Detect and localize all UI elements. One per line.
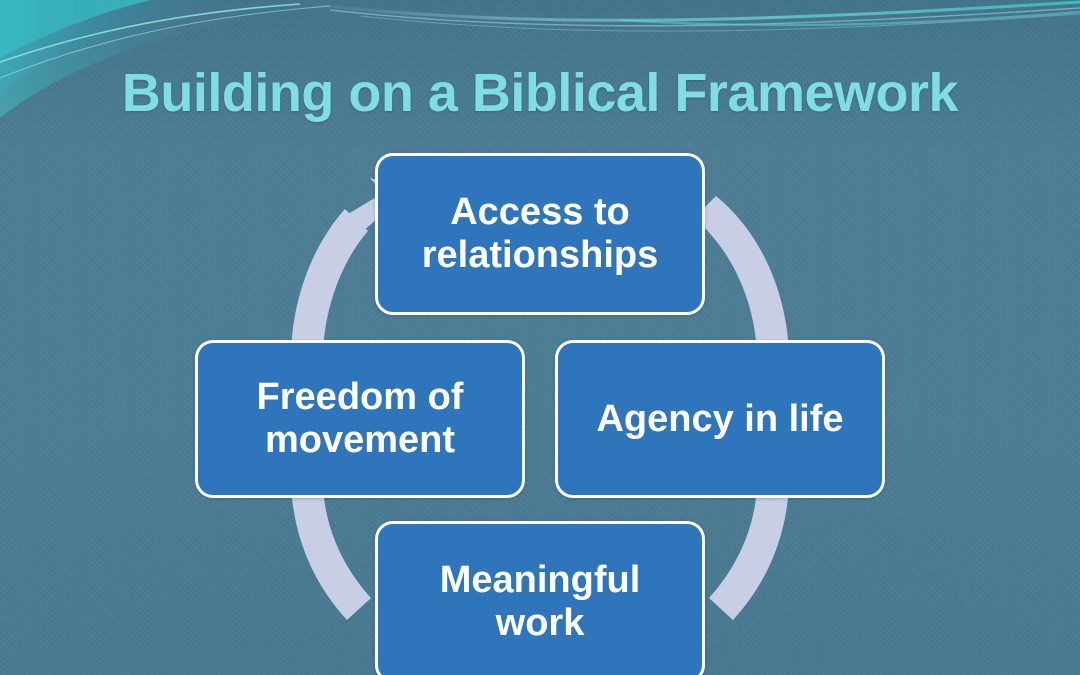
cycle-node-freedom[interactable]: Freedom of movement — [195, 340, 525, 498]
cycle-node-access[interactable]: Access to relationships — [375, 153, 705, 315]
cycle-node-work[interactable]: Meaningful work — [375, 521, 705, 675]
slide-canvas: Building on a Biblical Framework Access … — [0, 0, 1080, 675]
arrow-segment-work-to-freedom — [291, 486, 371, 620]
cycle-node-agency[interactable]: Agency in life — [555, 340, 885, 498]
arrow-segment-access-to-agency — [694, 196, 789, 352]
cycle-node-work-label: Meaningful work — [392, 559, 688, 644]
cycle-node-freedom-label: Freedom of movement — [212, 376, 508, 461]
cycle-node-agency-label: Agency in life — [596, 398, 843, 441]
cycle-diagram: Access to relationships Agency in life M… — [0, 0, 1080, 675]
cycle-node-access-label: Access to relationships — [392, 191, 688, 276]
arrow-segment-agency-to-work — [709, 486, 789, 620]
